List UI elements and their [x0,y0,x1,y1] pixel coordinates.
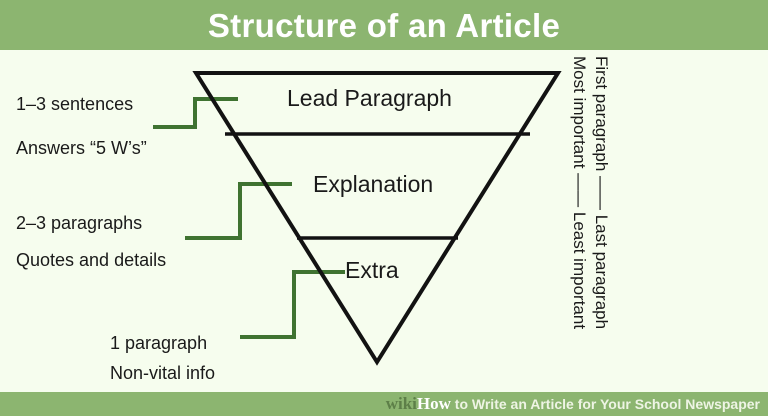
footer-bar: wikiHow to Write an Article for Your Sch… [0,392,768,416]
annotation-lead-line1: 1–3 sentences [16,94,133,115]
connector-explanation [185,184,292,238]
section-label-lead: Lead Paragraph [287,87,452,110]
annotation-extra-line2: Non-vital info [110,363,215,384]
brand-wiki-text: wiki [386,394,417,413]
infographic-root: Structure of an Article Lead Paragraph E… [0,0,768,416]
diagram-canvas: Lead Paragraph Explanation Extra 1–3 sen… [0,50,768,392]
annotation-lead-line2: Answers “5 W’s” [16,138,147,159]
annotation-explanation-line1: 2–3 paragraphs [16,213,142,234]
title-banner: Structure of an Article [0,0,768,50]
brand-how-text: How [417,394,451,413]
connector-extra [240,272,345,337]
annotation-extra-line1: 1 paragraph [110,333,207,354]
inverted-pyramid-outline [196,73,558,362]
axis-label-importance: Most important —— Least important [571,56,588,329]
footer-tail-text: to Write an Article for Your School News… [451,396,760,412]
axis-label-paragraph-order: First paragraph —— Last paragraph [593,56,610,329]
annotation-explanation-line2: Quotes and details [16,250,166,271]
footer-credit: wikiHow to Write an Article for Your Sch… [386,395,760,413]
page-title: Structure of an Article [208,9,560,42]
section-label-extra: Extra [345,259,399,282]
section-label-explanation: Explanation [313,173,433,196]
